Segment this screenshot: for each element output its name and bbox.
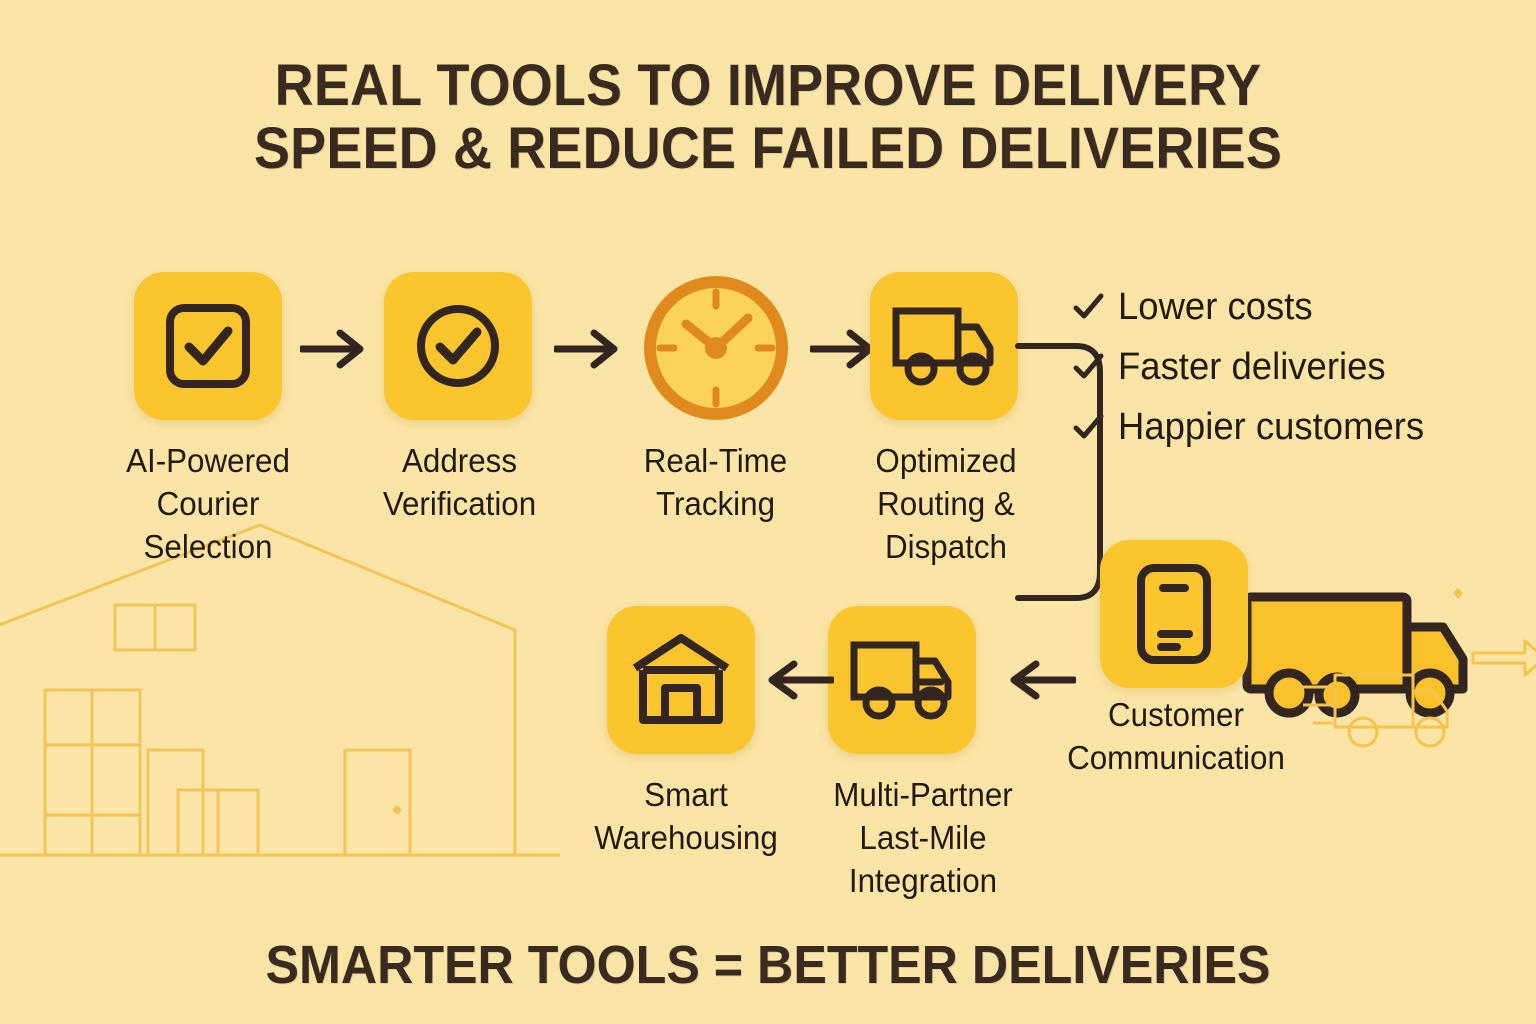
delivery-truck-icon [849,637,955,723]
flow-label-last-mile: Multi-Partner Last-Mile Integration [804,774,1042,903]
benefits-list: Lower costs Faster deliveries Happier cu… [1072,288,1437,468]
arrow-right-icon-1 [300,325,372,373]
benefit-label: Faster deliveries [1118,348,1386,386]
benefit-item: Happier customers [1072,408,1437,446]
flow-label-routing: Optimized Routing & Dispatch [851,440,1041,569]
motion-arrow-icon [1473,641,1536,675]
flow-label-tracking: Real-Time Tracking [613,440,817,526]
flow-node-customer[interactable] [1100,540,1248,688]
checkbox-check-icon [160,298,256,394]
flow-label-address: Address Verification [357,440,561,526]
flow-node-routing[interactable] [870,272,1018,420]
title-line-1: REAL TOOLS TO IMPROVE DELIVERY [54,54,1482,117]
footer-tagline: SMARTER TOOLS = BETTER DELIVERIES [54,934,1482,996]
infographic-canvas: REAL TOOLS TO IMPROVE DELIVERY SPEED & R… [0,0,1536,1024]
check-icon [1072,291,1104,323]
benefit-item: Faster deliveries [1072,348,1437,386]
flow-node-last-mile[interactable] [828,606,976,754]
benefit-label: Happier customers [1118,408,1424,446]
benefit-label: Lower costs [1118,288,1313,326]
warehouse-icon [629,632,733,728]
circle-check-icon [410,298,506,394]
flow-node-tracking[interactable] [640,272,792,424]
delivery-truck-icon [891,303,997,389]
title-line-2: SPEED & REDUCE FAILED DELIVERIES [54,117,1482,180]
check-icon [1072,411,1104,443]
flow-label-customer: Customer Communication [1043,694,1309,780]
page-title: REAL TOOLS TO IMPROVE DELIVERY SPEED & R… [54,54,1482,180]
flow-node-ai-courier[interactable] [134,272,282,420]
flow-node-warehousing[interactable] [607,606,755,754]
flow-label-ai-courier: AI-Powered Courier Selection [94,440,322,569]
mobile-phone-icon [1133,562,1215,666]
flow-label-warehousing: Smart Warehousing [572,774,800,860]
arrow-right-icon-2 [554,325,626,373]
check-icon [1072,351,1104,383]
speeding-truck-outline-art [1297,675,1447,746]
arrow-left-icon-1 [1000,656,1076,704]
benefit-item: Lower costs [1072,288,1437,326]
arrow-left-icon-2 [758,656,834,704]
flow-node-address[interactable] [384,272,532,420]
